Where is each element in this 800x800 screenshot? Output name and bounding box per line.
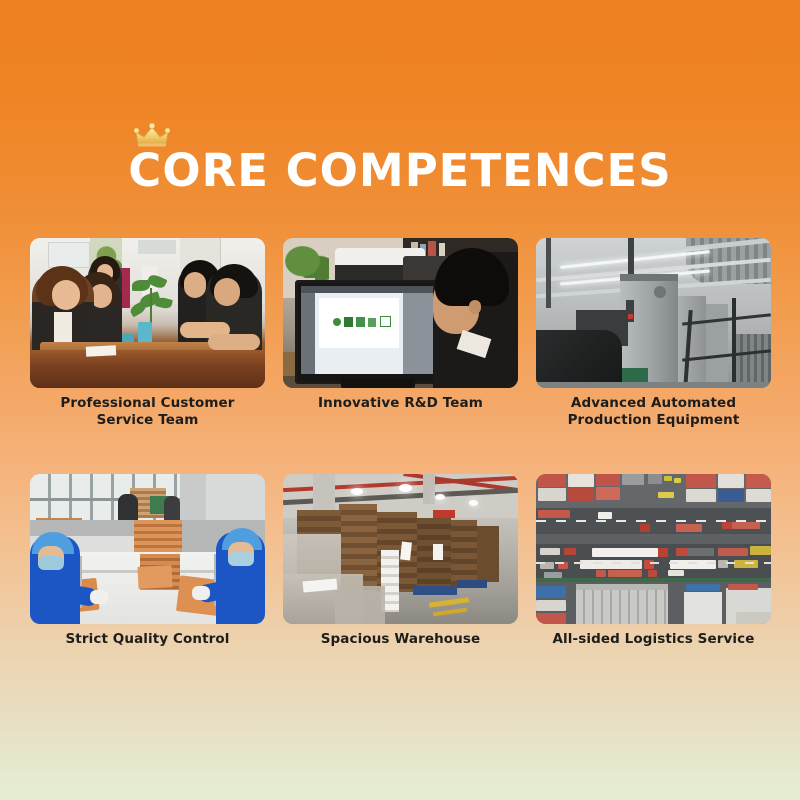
caption-line-2: Service Team <box>30 412 265 429</box>
photo-warehouse[interactable] <box>283 474 518 624</box>
grid-row-1: Professional Customer Service Team <box>30 238 770 429</box>
caption-innovative-rd-team: Innovative R&D Team <box>283 395 518 412</box>
caption-professional-customer-service-team: Professional Customer Service Team <box>30 395 265 429</box>
caption-advanced-automated-production-equipment: Advanced Automated Production Equipment <box>536 395 771 429</box>
card-strict-quality-control[interactable]: Strict Quality Control <box>30 474 265 648</box>
row-spacer <box>30 429 770 474</box>
caption-line-1: All-sided Logistics Service <box>553 631 755 647</box>
photo-rd-team[interactable] <box>283 238 518 388</box>
photo-production-equipment[interactable] <box>536 238 771 388</box>
caption-line-1: Spacious Warehouse <box>321 631 481 647</box>
caption-spacious-warehouse: Spacious Warehouse <box>283 631 518 648</box>
caption-strict-quality-control: Strict Quality Control <box>30 631 265 648</box>
photo-customer-service-team[interactable] <box>30 238 265 388</box>
caption-line-1: Innovative R&D Team <box>318 395 483 411</box>
competence-grid: Professional Customer Service Team <box>30 238 770 648</box>
core-competences-banner: CORE COMPETENCES <box>0 0 800 800</box>
card-all-sided-logistics-service[interactable]: All-sided Logistics Service <box>536 474 771 648</box>
card-professional-customer-service-team[interactable]: Professional Customer Service Team <box>30 238 265 429</box>
caption-line-1: Professional Customer <box>60 395 234 411</box>
caption-all-sided-logistics-service: All-sided Logistics Service <box>536 631 771 648</box>
card-spacious-warehouse[interactable]: Spacious Warehouse <box>283 474 518 648</box>
caption-line-2: Production Equipment <box>536 412 771 429</box>
photo-logistics-service[interactable] <box>536 474 771 624</box>
title-block: CORE COMPETENCES <box>0 148 800 193</box>
page-title: CORE COMPETENCES <box>128 148 671 193</box>
caption-line-1: Advanced Automated <box>571 395 736 411</box>
card-innovative-rd-team[interactable]: Innovative R&D Team <box>283 238 518 429</box>
card-advanced-automated-production-equipment[interactable]: Advanced Automated Production Equipment <box>536 238 771 429</box>
photo-quality-control[interactable] <box>30 474 265 624</box>
grid-row-2: Strict Quality Control <box>30 474 770 648</box>
caption-line-1: Strict Quality Control <box>65 631 229 647</box>
